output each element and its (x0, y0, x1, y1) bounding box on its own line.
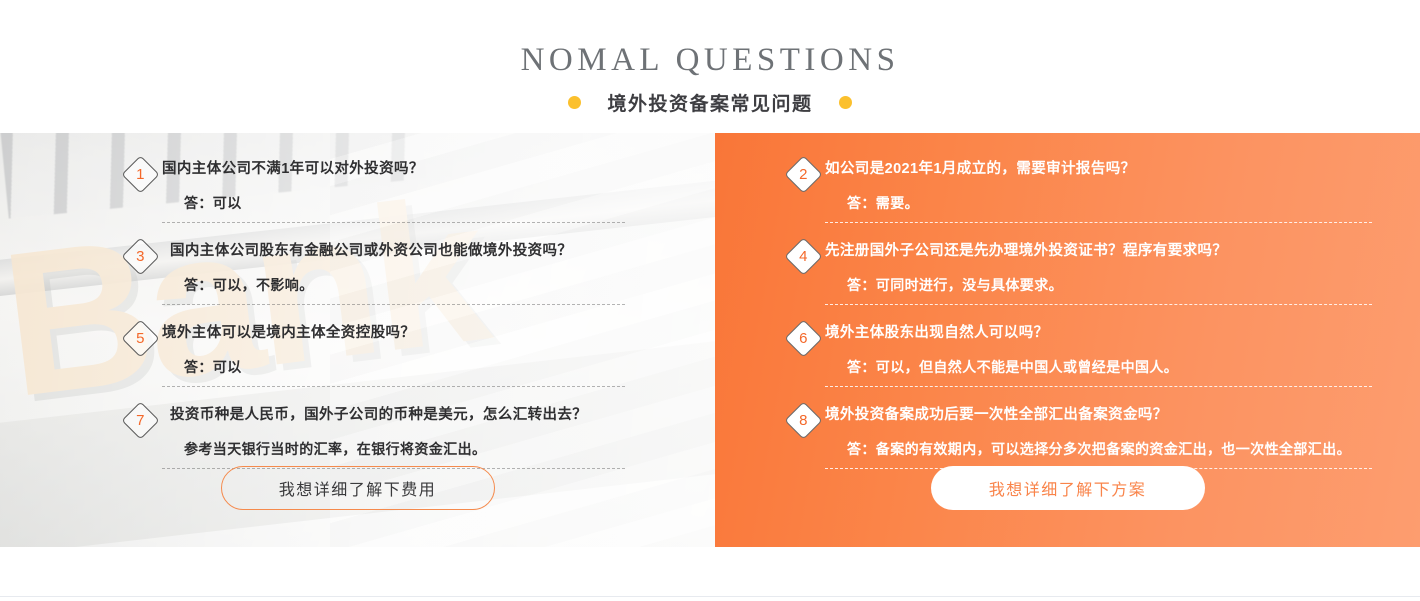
faq-number-badge: 2 (784, 155, 822, 193)
subtitle-row: 境外投资备案常见问题 (0, 89, 1420, 116)
faq-item: 6 境外主体股东出现自然人可以吗？ 答：可以，但自然人不能是中国人或曾经是中国人… (825, 323, 1372, 387)
faq-divider (825, 222, 1372, 223)
faq-question: 国内主体公司股东有金融公司或外资公司也能做境外投资吗？ (162, 241, 625, 261)
faq-number: 5 (136, 331, 144, 346)
learn-more-fees-button[interactable]: 我想详细了解下费用 (221, 466, 495, 510)
faq-question: 如公司是2021年1月成立的，需要审计报告吗？ (825, 159, 1372, 179)
faq-question: 先注册国外子公司还是先办理境外投资证书？程序有要求吗？ (825, 241, 1372, 261)
faq-number: 7 (136, 413, 144, 428)
cta-wrap-right: 我想详细了解下方案 (715, 466, 1420, 510)
faq-divider (825, 386, 1372, 387)
faq-number: 1 (136, 167, 144, 182)
faq-panels: Bank 1 国内主体公司不满1年可以对外投资吗？ 答：可以 3 (0, 133, 1420, 547)
faq-item: 4 先注册国外子公司还是先办理境外投资证书？程序有要求吗？ 答：可同时进行，没与… (825, 241, 1372, 305)
faq-number-badge: 5 (121, 319, 159, 357)
faq-answer: 参考当天银行当时的汇率，在银行将资金汇出。 (162, 439, 625, 459)
faq-answer: 答：可同时进行，没与具体要求。 (825, 275, 1372, 295)
faq-divider (162, 386, 625, 387)
faq-answer: 答：备案的有效期内，可以选择分多次把备案的资金汇出，也一次性全部汇出。 (825, 439, 1372, 459)
faq-item: 7 投资币种是人民币，国外子公司的币种是美元，怎么汇转出去？ 参考当天银行当时的… (162, 405, 625, 469)
bullet-dot-right-icon (839, 96, 852, 109)
faq-question: 国内主体公司不满1年可以对外投资吗？ (162, 159, 625, 179)
section-subtitle: 境外投资备案常见问题 (607, 89, 812, 116)
faq-divider (162, 304, 625, 305)
faq-section: NOMAL QUESTIONS 境外投资备案常见问题 Bank 1 (0, 0, 1420, 601)
faq-answer: 答：可以，但自然人不能是中国人或曾经是中国人。 (825, 357, 1372, 377)
faq-question: 境外主体可以是境内主体全资控股吗？ (162, 323, 625, 343)
faq-item: 1 国内主体公司不满1年可以对外投资吗？ 答：可以 (162, 159, 625, 223)
faq-list-right: 2 如公司是2021年1月成立的，需要审计报告吗？ 答：需要。 4 先注册国外子… (715, 159, 1420, 469)
faq-number-badge: 3 (121, 237, 159, 275)
faq-list-left: 1 国内主体公司不满1年可以对外投资吗？ 答：可以 3 国内主体公司股东有金融公… (0, 159, 715, 469)
faq-answer: 答：需要。 (825, 193, 1372, 213)
faq-divider (162, 222, 625, 223)
faq-panel-right: 2 如公司是2021年1月成立的，需要审计报告吗？ 答：需要。 4 先注册国外子… (715, 133, 1420, 547)
faq-number-badge: 4 (784, 237, 822, 275)
faq-number: 2 (799, 167, 807, 182)
learn-more-plan-button[interactable]: 我想详细了解下方案 (931, 466, 1205, 510)
bullet-dot-left-icon (568, 96, 581, 109)
section-header: NOMAL QUESTIONS 境外投资备案常见问题 (0, 0, 1420, 133)
faq-number: 4 (799, 249, 807, 264)
faq-question: 境外投资备案成功后要一次性全部汇出备案资金吗？ (825, 405, 1372, 425)
faq-item: 8 境外投资备案成功后要一次性全部汇出备案资金吗？ 答：备案的有效期内，可以选择… (825, 405, 1372, 469)
faq-question: 投资币种是人民币，国外子公司的币种是美元，怎么汇转出去？ (162, 405, 625, 425)
faq-number-badge: 1 (121, 155, 159, 193)
faq-number-badge: 8 (784, 401, 822, 439)
faq-answer: 答：可以 (162, 357, 625, 377)
faq-divider (825, 304, 1372, 305)
faq-number: 6 (799, 331, 807, 346)
faq-question: 境外主体股东出现自然人可以吗？ (825, 323, 1372, 343)
faq-number-badge: 7 (121, 401, 159, 439)
faq-number-badge: 6 (784, 319, 822, 357)
faq-item: 3 国内主体公司股东有金融公司或外资公司也能做境外投资吗？ 答：可以，不影响。 (162, 241, 625, 305)
faq-number: 3 (136, 249, 144, 264)
faq-number: 8 (799, 413, 807, 428)
footer-divider (0, 596, 1420, 597)
faq-answer: 答：可以，不影响。 (162, 275, 625, 295)
cta-wrap-left: 我想详细了解下费用 (0, 466, 715, 510)
faq-panel-left: Bank 1 国内主体公司不满1年可以对外投资吗？ 答：可以 3 (0, 133, 715, 547)
faq-item: 5 境外主体可以是境内主体全资控股吗？ 答：可以 (162, 323, 625, 387)
faq-item: 2 如公司是2021年1月成立的，需要审计报告吗？ 答：需要。 (825, 159, 1372, 223)
faq-answer: 答：可以 (162, 193, 625, 213)
page-title: NOMAL QUESTIONS (0, 40, 1420, 80)
